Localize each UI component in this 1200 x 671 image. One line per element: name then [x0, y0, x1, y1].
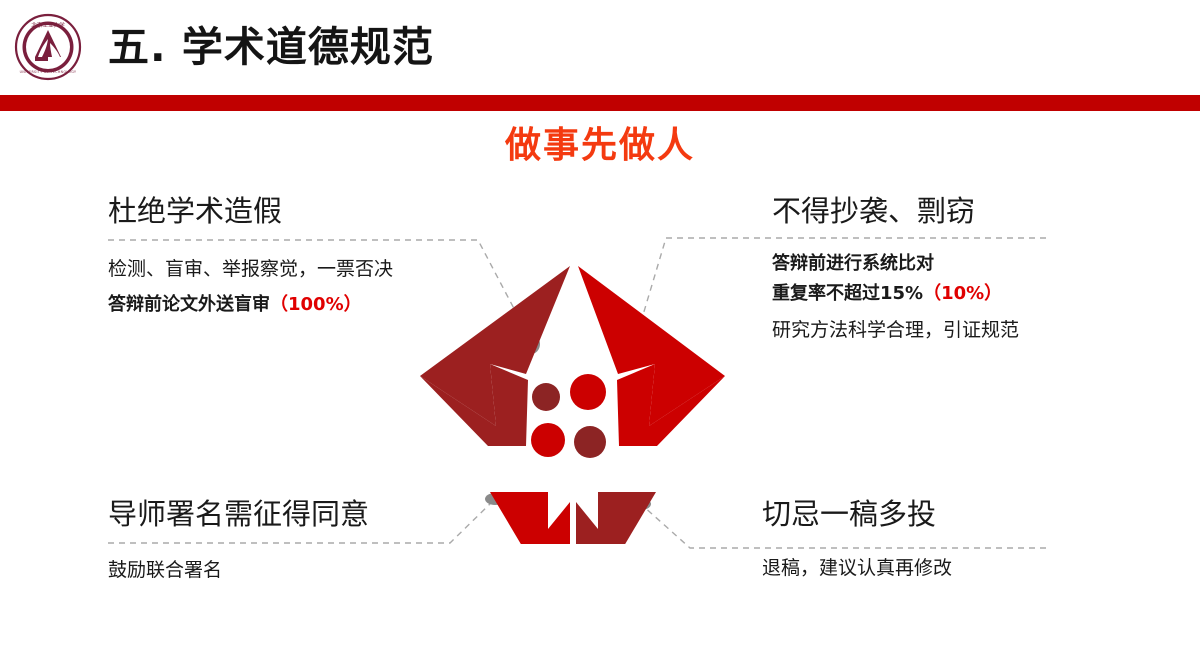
- center-dot-top-right: [570, 374, 606, 410]
- line-text: 鼓励联合署名: [108, 559, 222, 581]
- quadrant-line: 重复率不超过15%（10%）: [772, 279, 1019, 309]
- quadrant-body: 退稿，建议认真再修改: [762, 550, 952, 586]
- quadrant-heading: 切忌一稿多投: [762, 496, 952, 532]
- university-crest-logo: 北京工业大学 UNIVERSITY OF TECHNOLOGY: [14, 13, 82, 81]
- quadrant-body: 答辩前进行系统比对 重复率不超过15%（10%） 研究方法科学合理，引证规范: [772, 249, 1019, 351]
- page-title: 五. 学术道德规范: [108, 18, 434, 76]
- slide-title: 做事先做人: [0, 124, 1200, 168]
- header-divider-bar: [0, 95, 1200, 111]
- line-text: 检测、盲审、举报察觉，一票否决: [108, 258, 393, 280]
- quadrant-line: 检测、盲审、举报察觉，一票否决: [108, 251, 393, 287]
- star-leg-br: [576, 492, 656, 544]
- quadrant-line: 答辩前进行系统比对: [772, 249, 1019, 279]
- center-dot-top-left: [532, 383, 560, 411]
- line-text: 退稿，建议认真再修改: [762, 557, 952, 579]
- quadrant-top-right: 不得抄袭、剽窃 答辩前进行系统比对 重复率不超过15%（10%） 研究方法科学合…: [772, 193, 1019, 351]
- five-point-star-diagram: [418, 244, 728, 544]
- quadrant-bottom-left: 导师署名需征得同意 鼓励联合署名: [108, 496, 369, 588]
- quadrant-body: 检测、盲审、举报察觉，一票否决 答辩前论文外送盲审（100%）: [108, 251, 393, 323]
- svg-text:UNIVERSITY OF TECHNOLOGY: UNIVERSITY OF TECHNOLOGY: [20, 70, 77, 74]
- quadrant-heading: 导师署名需征得同意: [108, 496, 369, 532]
- center-dot-bottom-right: [574, 426, 606, 458]
- quadrant-line: 答辩前论文外送盲审（100%）: [108, 287, 393, 323]
- slide-header: 北京工业大学 UNIVERSITY OF TECHNOLOGY 五. 学术道德规…: [0, 0, 1200, 95]
- quadrant-line: 退稿，建议认真再修改: [762, 550, 952, 586]
- center-dot-bottom-left: [531, 423, 565, 457]
- quadrant-heading: 杜绝学术造假: [108, 193, 393, 229]
- svg-text:北京工业大学: 北京工业大学: [31, 21, 65, 29]
- quadrant-body: 鼓励联合署名: [108, 552, 369, 588]
- line-highlight: （100%）: [270, 294, 362, 315]
- line-text: 答辩前进行系统比对: [772, 253, 934, 274]
- line-text: 答辩前论文外送盲审: [108, 294, 270, 315]
- quadrant-heading: 不得抄袭、剽窃: [772, 193, 1019, 229]
- line-text: 重复率不超过15%: [772, 283, 923, 304]
- quadrant-bottom-right: 切忌一稿多投 退稿，建议认真再修改: [762, 496, 952, 586]
- quadrant-top-left: 杜绝学术造假 检测、盲审、举报察觉，一票否决 答辩前论文外送盲审（100%）: [108, 193, 393, 323]
- slide-canvas: 北京工业大学 UNIVERSITY OF TECHNOLOGY 五. 学术道德规…: [0, 0, 1200, 671]
- quadrant-line: 研究方法科学合理，引证规范: [772, 309, 1019, 351]
- line-highlight: （10%）: [923, 283, 1002, 304]
- line-text: 研究方法科学合理，引证规范: [772, 319, 1019, 341]
- quadrant-line: 鼓励联合署名: [108, 552, 369, 588]
